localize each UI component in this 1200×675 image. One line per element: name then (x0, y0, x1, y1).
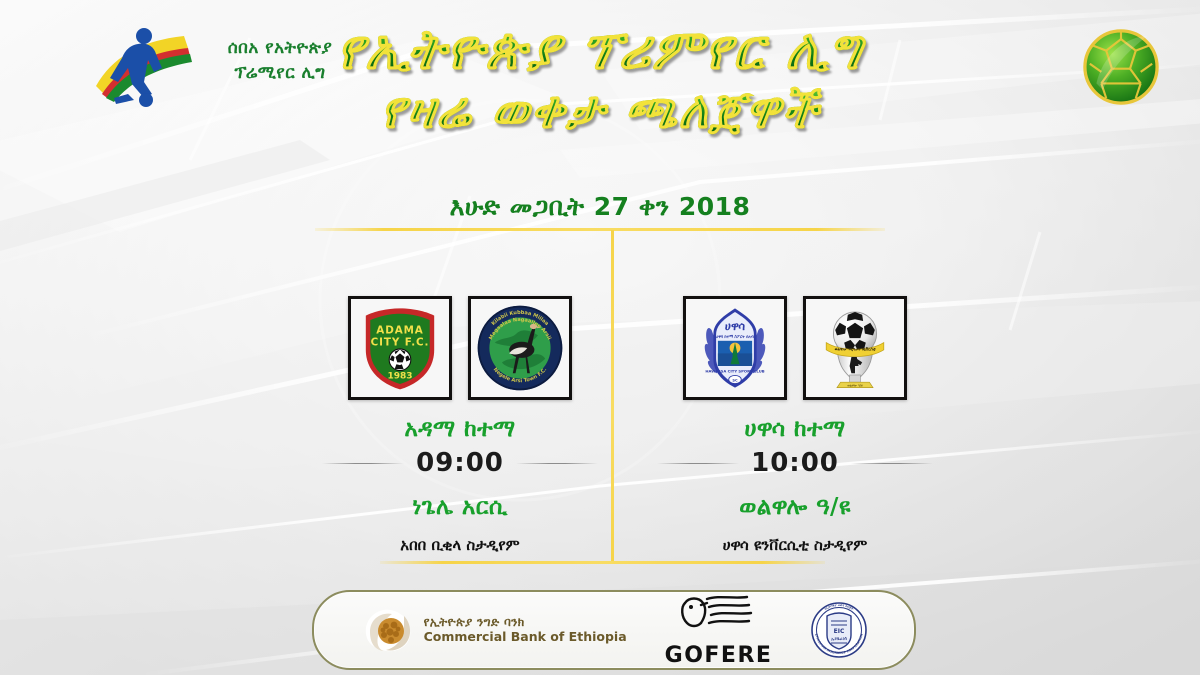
svg-text:ሀዋሳ: ሀዋሳ (725, 319, 745, 333)
away-team-crest: ወልዋሎ ዓ/ዩ (803, 296, 907, 400)
match-date: እሁድ መጋቢት 27 ቀን 2018 (0, 192, 1200, 222)
kickoff-row: 09:00 (300, 448, 620, 478)
away-team-crest: Kilabii Kubbaa Miilaa Magaalaa Nagaallee… (468, 296, 572, 400)
kickoff-dash-right (851, 463, 933, 464)
home-team-crest: ሀዋሳ ሀዋሳ ከተማ ስፖርት ክለብ HAWASSA CITY SPORT … (683, 296, 787, 400)
poster-header: ሰበአ የአትዮጵያ ፕሬሚየር ሊግ (0, 0, 1200, 180)
match-card[interactable]: ADAMA CITY F.C. 1983 (300, 236, 620, 520)
gofere-wordmark: GOFERE (665, 643, 773, 668)
sponsor-commercial-bank-of-ethiopia[interactable]: የኢትዮጵያ ንግድ ባንክ Commercial Bank of Ethiop… (360, 604, 627, 656)
sponsor-bar: የኢትዮጵያ ንግድ ባንክ Commercial Bank of Ethiop… (312, 590, 916, 670)
away-team-name: ወልዋሎ ዓ/ዩ (635, 494, 955, 520)
poster-title-block: የኢትዮጵያ ፕሪምየር ሊግ የዛሬ ወቀታ ጫለጀዋች (0, 22, 1200, 136)
crest-pair: ሀዋሳ ሀዋሳ ከተማ ስፖርት ክለብ HAWASSA CITY SPORT … (635, 296, 955, 400)
poster-title-main: የኢትዮጵያ ፕሪምየር ሊግ (0, 22, 1200, 77)
match-day-poster: ሰበአ የአትዮጵያ ፕሬሚየር ሊግ (0, 0, 1200, 675)
away-team-name: ነጌሌ አርሲ (300, 494, 620, 520)
kickoff-dash-left (657, 463, 739, 464)
sponsor-ethiopian-insurance-corporation[interactable]: EIC ኢንሹራንስ የኢትዮጵያ መድን ድርጅት ETHIOPIAN INS… (810, 601, 868, 659)
sponsor-gofere[interactable]: GOFERE (665, 593, 773, 668)
cbe-shell-icon (360, 604, 416, 656)
venue-name: ሀዋሳ ዩንቨርሲቲ ስታዲየም (635, 536, 955, 554)
home-team-name: ሀዋሳ ከተማ (635, 416, 955, 442)
poster-title-sub: የዛሬ ወቀታ ጫለጀዋች (0, 85, 1200, 136)
adama-city-fc-crest-icon: ADAMA CITY F.C. 1983 (355, 303, 445, 393)
crest-pair: ADAMA CITY F.C. 1983 (300, 296, 620, 400)
svg-text:SC: SC (732, 378, 738, 382)
svg-text:ADAMA: ADAMA (376, 325, 423, 337)
gofere-lion-icon (677, 593, 761, 633)
home-team-crest: ADAMA CITY F.C. 1983 (348, 296, 452, 400)
cbe-name-amharic: የኢትዮጵያ ንግድ ባንክ (424, 616, 627, 630)
ethiopian-insurance-corporation-seal-icon: EIC ኢንሹራንስ የኢትዮጵያ መድን ድርጅት ETHIOPIAN INS… (810, 601, 868, 659)
svg-text:ወልዋሎ ዓዲግራት ዩኒቨርስቲ: ወልዋሎ ዓዲግራት ዩኒቨርስቲ (835, 347, 876, 352)
svg-text:CITY F.C.: CITY F.C. (371, 336, 430, 348)
home-team-name: አዳማ ከተማ (300, 416, 620, 442)
match-list: ADAMA CITY F.C. 1983 (0, 236, 1200, 566)
svg-text:ኢንሹራንስ: ኢንሹራንስ (832, 636, 848, 641)
svg-text:1983: 1983 (387, 372, 412, 382)
match-card[interactable]: ሀዋሳ ሀዋሳ ከተማ ስፖርት ክለብ HAWASSA CITY SPORT … (635, 236, 955, 520)
kickoff-row: 10:00 (635, 448, 955, 478)
kickoff-time: 10:00 (751, 448, 839, 478)
svg-text:ሀዋሳ ከተማ ስፖርት ክለብ: ሀዋሳ ከተማ ስፖርት ክለብ (716, 334, 755, 339)
svg-text:ወልዋሎ ዓ/ዩ: ወልዋሎ ዓ/ዩ (847, 384, 863, 388)
venue-name: አበበ ቢቂላ ስታዲየም (300, 536, 620, 554)
kickoff-time: 09:00 (416, 448, 504, 478)
kickoff-dash-right (516, 463, 598, 464)
svg-text:EIC: EIC (834, 628, 845, 635)
cbe-name-english: Commercial Bank of Ethiopia (424, 630, 627, 644)
negele-arsi-town-fc-crest-icon: Kilabii Kubbaa Miilaa Magaalaa Nagaallee… (475, 303, 565, 393)
welwalo-adigrat-university-crest-icon: ወልዋሎ ዓ/ዩ (810, 303, 900, 393)
divider-top-horizontal (315, 228, 885, 231)
svg-text:HAWASSA CITY SPORT CLUB: HAWASSA CITY SPORT CLUB (705, 369, 764, 373)
kickoff-dash-left (322, 463, 404, 464)
hawassa-city-sc-crest-icon: ሀዋሳ ሀዋሳ ከተማ ስፖርት ክለብ HAWASSA CITY SPORT … (690, 303, 780, 393)
